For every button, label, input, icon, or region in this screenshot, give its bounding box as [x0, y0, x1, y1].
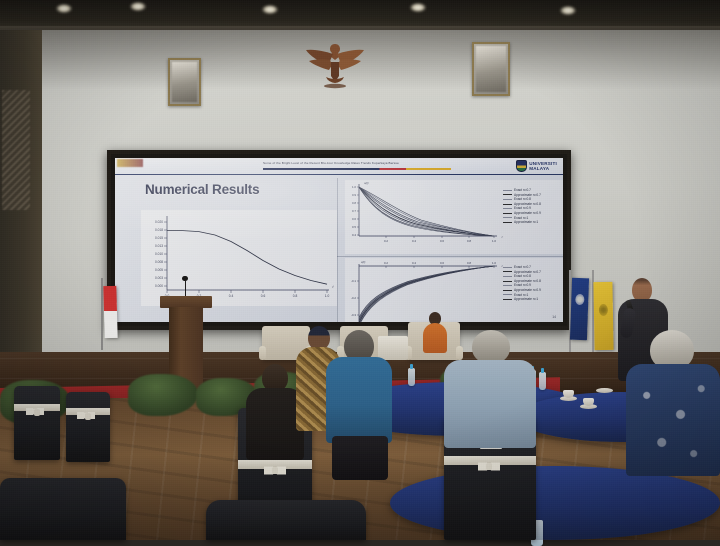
svg-text:0.9: 0.9 [352, 193, 356, 197]
legend-key-icon [503, 267, 512, 268]
banquet-chair-foreground [206, 500, 366, 540]
um-crest-icon [516, 160, 527, 172]
legend-key-icon [503, 290, 512, 291]
svg-text:v(t): v(t) [361, 260, 365, 264]
chart-bottom-right-legend: Exact n=0.7 Approximate n=0.7 Exact n=0.… [503, 265, 541, 302]
svg-text:0.6: 0.6 [352, 217, 356, 221]
audience-member [626, 330, 720, 480]
svg-text:0.4: 0.4 [412, 239, 416, 243]
legend-item: Approximate n=1 [503, 220, 541, 225]
svg-text:0.8: 0.8 [293, 294, 298, 298]
banquet-chair [14, 386, 60, 460]
banquet-chair-foreground [0, 478, 126, 540]
chart-left: 0.020 0.018 0.015 0.013 0.010 0.008 0.00… [141, 210, 337, 306]
ceiling-spotlight [262, 5, 278, 14]
svg-text:0.8: 0.8 [352, 201, 356, 205]
svg-text:-0.2: -0.2 [351, 296, 356, 300]
svg-text:u(t): u(t) [364, 181, 369, 185]
svg-text:0.003: 0.003 [155, 276, 163, 280]
chart-top-right-legend: Exact n=0.7 Approximate n=0.7 Exact n=0.… [503, 188, 541, 225]
audience-torso-patterned [626, 364, 720, 476]
framed-portrait-left [168, 58, 201, 106]
university-malaya-logo: UNIVERSITI MALAYA [516, 160, 557, 172]
slide-banner: Some of the Bright Level of the Recent B… [115, 158, 563, 175]
legend-key-icon [503, 208, 512, 209]
svg-text:-0.3: -0.3 [351, 313, 356, 317]
university-name-line1: UNIVERSITI [529, 161, 557, 166]
garuda-pancasila-emblem [300, 36, 370, 98]
svg-text:0.005: 0.005 [155, 268, 163, 272]
water-bottle [539, 372, 546, 390]
ceiling-spotlight [410, 3, 426, 12]
flag-emblem-icon [599, 304, 608, 316]
svg-text:0.4: 0.4 [352, 233, 356, 237]
svg-text:1.0: 1.0 [325, 294, 330, 298]
legend-key-icon [503, 222, 512, 223]
svg-text:0.018: 0.018 [155, 228, 163, 232]
legend-key-icon [503, 199, 512, 200]
svg-text:0.6: 0.6 [440, 261, 444, 265]
banner-corner-mark [117, 159, 143, 167]
saucer [596, 388, 613, 393]
svg-text:0.8: 0.8 [467, 261, 471, 265]
svg-text:0.4: 0.4 [412, 261, 416, 265]
water-bottle [408, 368, 415, 386]
audience-torso [444, 360, 536, 448]
indonesian-flag [103, 286, 117, 338]
chair-bow [478, 460, 500, 473]
legend-item: Approximate n=1 [503, 297, 541, 302]
svg-text:0.2: 0.2 [384, 261, 388, 265]
yellow-institution-flag [593, 282, 613, 350]
wall-carving [2, 90, 30, 210]
legend-label: Approximate n=1 [514, 220, 538, 225]
svg-text:0.000: 0.000 [155, 284, 163, 288]
legend-key-icon [503, 194, 512, 195]
svg-text:0.5: 0.5 [352, 225, 356, 229]
slide-title: Numerical Results [145, 182, 259, 197]
svg-text:0.2: 0.2 [384, 239, 388, 243]
university-name-line2: MALAYA [529, 166, 557, 171]
legend-key-icon [503, 190, 512, 191]
microphone-stem [185, 280, 186, 297]
svg-text:1.0: 1.0 [492, 261, 496, 265]
svg-text:-0.1: -0.1 [351, 279, 356, 283]
audience-lower-body [332, 436, 388, 480]
ceiling-spotlight [560, 6, 576, 15]
audience-member [444, 330, 536, 460]
flag-emblem-icon [575, 294, 584, 305]
legend-key-icon [503, 213, 512, 214]
flagpole-left [101, 278, 103, 350]
chair-bow [264, 464, 286, 477]
svg-text:0.015: 0.015 [155, 236, 163, 240]
svg-text:0.020: 0.020 [155, 220, 163, 224]
ceiling-spotlight [56, 4, 72, 13]
wall-pillar-left [0, 30, 42, 360]
svg-text:0.4: 0.4 [229, 294, 234, 298]
svg-text:0.8: 0.8 [467, 239, 471, 243]
banner-stripe [263, 168, 451, 170]
legend-key-icon [503, 294, 512, 295]
svg-text:0.008: 0.008 [155, 260, 163, 264]
blue-institution-flag [570, 278, 589, 341]
slide-page-number: 14 [552, 315, 556, 319]
svg-text:0.013: 0.013 [155, 244, 163, 248]
svg-text:1.0: 1.0 [352, 185, 356, 189]
legend-key-icon [503, 285, 512, 286]
svg-text:t: t [502, 235, 503, 239]
audience-member [326, 330, 392, 470]
legend-key-icon [503, 276, 512, 277]
audience-head [472, 330, 510, 364]
svg-text:0.010: 0.010 [155, 252, 163, 256]
chair-bow [26, 406, 44, 417]
university-name: UNIVERSITI MALAYA [529, 161, 557, 171]
audience-torso [326, 357, 392, 443]
svg-text:0.6: 0.6 [261, 294, 266, 298]
slide-vertical-divider [337, 178, 338, 322]
conference-hall-photo: Some of the Bright Level of the Recent B… [0, 0, 720, 540]
legend-key-icon [503, 217, 512, 218]
svg-text:0.7: 0.7 [352, 209, 356, 213]
legend-key-icon [503, 271, 512, 272]
legend-key-icon [503, 281, 512, 282]
legend-key-icon [503, 204, 512, 205]
svg-text:0.6: 0.6 [440, 239, 444, 243]
legend-label: Approximate n=1 [514, 297, 538, 302]
framed-portrait-right [472, 42, 510, 96]
slide-horizontal-divider [337, 256, 563, 257]
svg-text:t: t [333, 285, 335, 289]
svg-text:1.0: 1.0 [492, 239, 496, 243]
ceiling-spotlight [130, 2, 146, 11]
chair-bow [77, 410, 95, 421]
legend-key-icon [503, 299, 512, 300]
banner-conference-title: Some of the Bright Level of the Recent B… [263, 161, 451, 165]
banquet-chair [66, 392, 110, 462]
